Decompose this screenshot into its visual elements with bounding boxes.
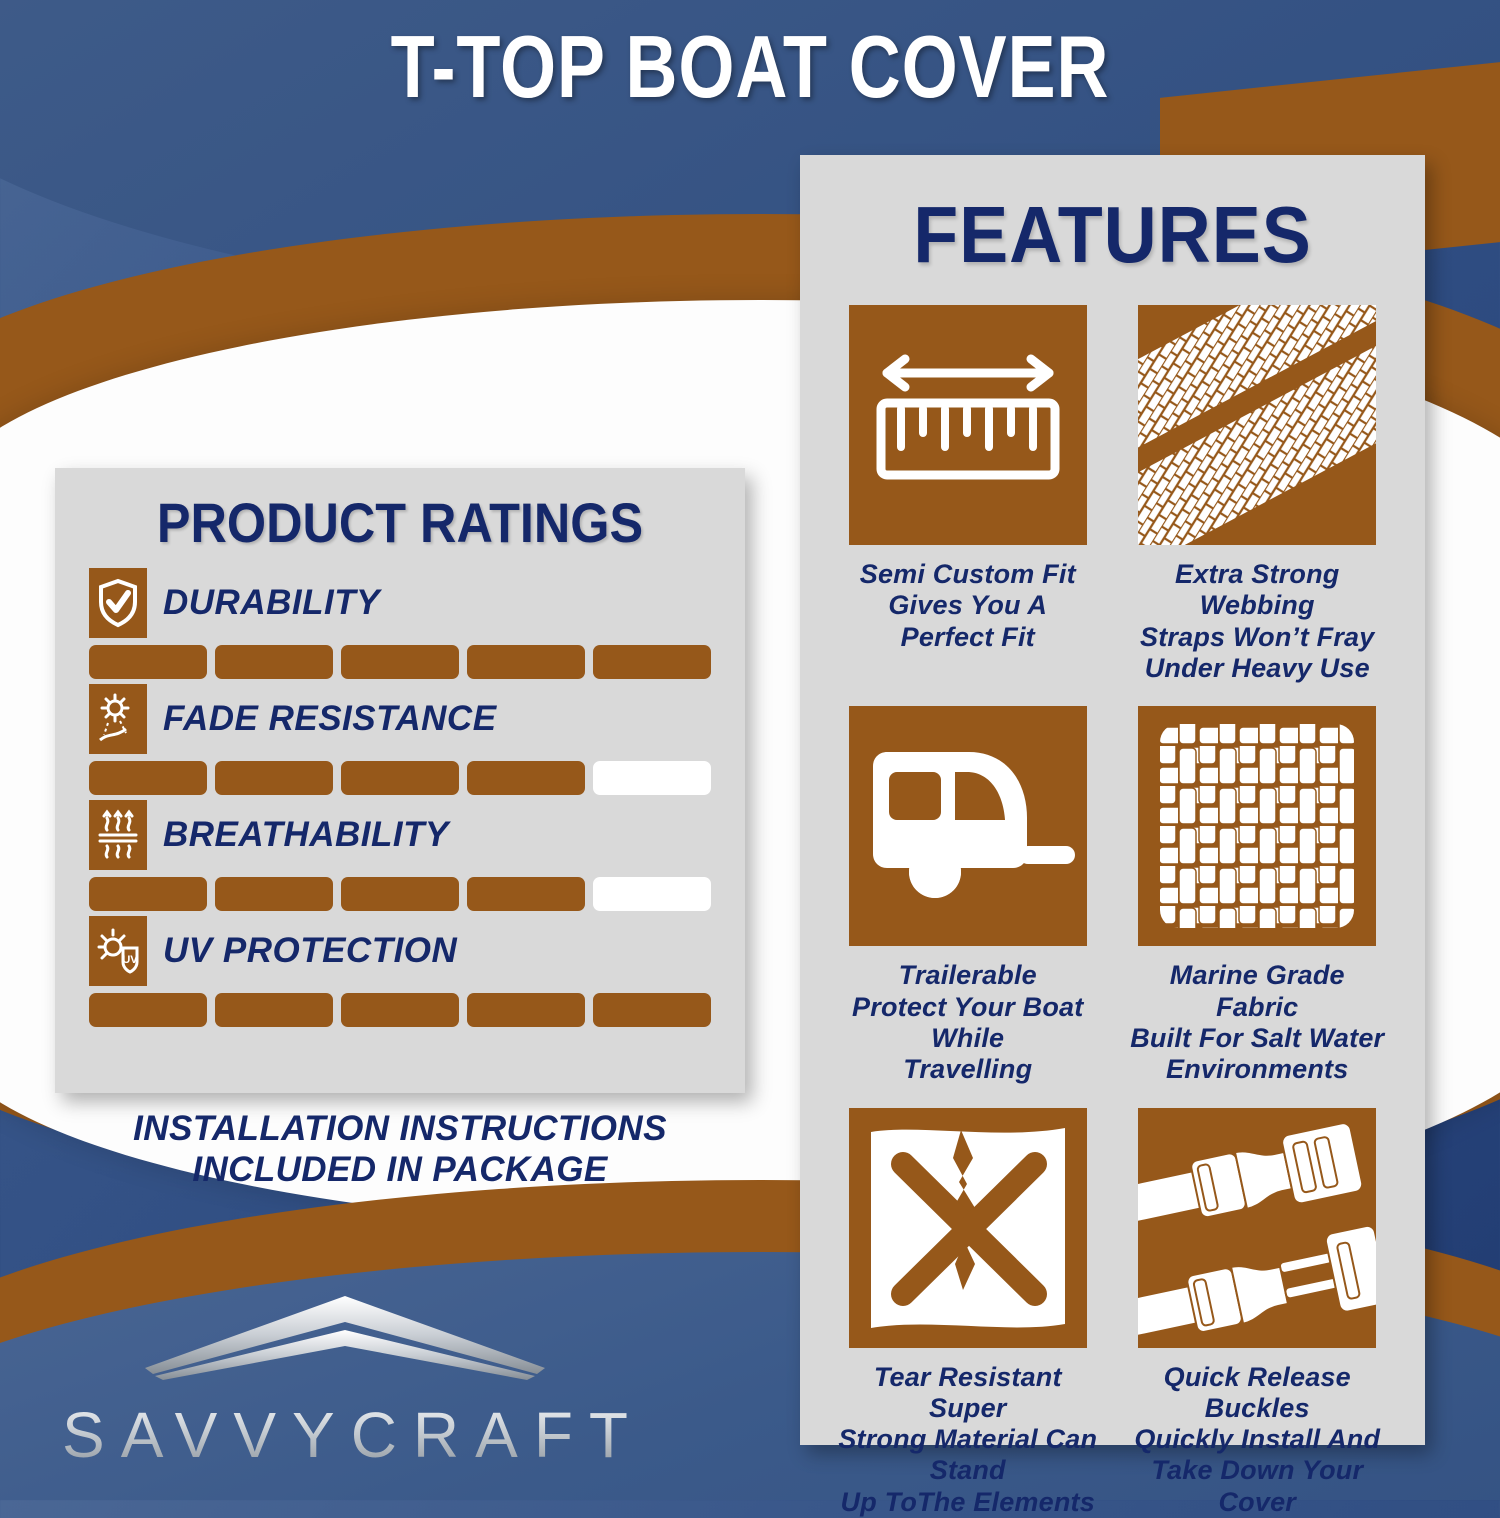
feature-caption-line: Quickly Install And xyxy=(1128,1424,1388,1455)
rating-bar-segment xyxy=(341,645,459,679)
rating-bar-segment xyxy=(467,761,585,795)
brand-logo: SAVVYCRAFT xyxy=(40,1290,650,1472)
rating-row: BREATHABILITY xyxy=(89,797,711,911)
uv-shield-icon: UV xyxy=(89,916,147,986)
feature-caption-line: Travelling xyxy=(838,1054,1098,1085)
shield-check-icon xyxy=(89,568,147,638)
page-title: T-TOP BOAT COVER xyxy=(135,16,1365,118)
torn-fabric-x-icon xyxy=(849,1108,1087,1348)
install-note-line-2: INCLUDED IN PACKAGE xyxy=(60,1149,740,1190)
rating-bar-segment xyxy=(215,993,333,1027)
rating-bar-track xyxy=(89,877,711,911)
rating-bar-segment xyxy=(341,877,459,911)
feature-caption-line: Marine Grade Fabric xyxy=(1128,960,1388,1023)
svg-text:UV: UV xyxy=(122,954,138,966)
features-panel-title: FEATURES xyxy=(825,189,1400,281)
airflow-icon xyxy=(89,800,147,870)
rating-bar-track xyxy=(89,993,711,1027)
rating-bar-segment xyxy=(215,645,333,679)
feature-item: Extra Strong Webbing Straps Won’t Fray U… xyxy=(1128,305,1388,684)
rating-bar-segment xyxy=(467,645,585,679)
feature-caption-line: Perfect Fit xyxy=(860,622,1076,653)
feature-caption-line: Straps Won’t Fray xyxy=(1128,622,1388,653)
brand-name: SAVVYCRAFT xyxy=(40,1398,650,1472)
rating-row: DURABILITY xyxy=(89,565,711,679)
feature-item: Tear Resistant Super Strong Material Can… xyxy=(838,1108,1098,1518)
feature-caption-line: Extra Strong Webbing xyxy=(1128,559,1388,622)
feature-caption-line: Built For Salt Water xyxy=(1128,1023,1388,1054)
feature-item: Marine Grade Fabric Built For Salt Water… xyxy=(1128,706,1388,1085)
rating-bar-segment xyxy=(89,645,207,679)
feature-caption: Trailerable Protect Your Boat While Trav… xyxy=(838,960,1098,1085)
feature-item: Semi Custom Fit Gives You A Perfect Fit xyxy=(838,305,1098,684)
rating-bar-track xyxy=(89,645,711,679)
feature-caption-line: Protect Your Boat While xyxy=(838,992,1098,1055)
feature-item: Trailerable Protect Your Boat While Trav… xyxy=(838,706,1098,1085)
rating-row: UV UV PROTECTION xyxy=(89,913,711,1027)
rating-label: UV PROTECTION xyxy=(163,931,457,971)
rating-bar-segment xyxy=(593,645,711,679)
features-panel: FEATURES xyxy=(800,155,1425,1445)
feature-item: Quick Release Buckles Quickly Install An… xyxy=(1128,1108,1388,1518)
installation-instructions-note: INSTALLATION INSTRUCTIONS INCLUDED IN PA… xyxy=(60,1108,740,1191)
rating-label: BREATHABILITY xyxy=(163,815,449,855)
feature-caption-line: Semi Custom Fit xyxy=(860,559,1076,590)
quick-release-buckle-icon xyxy=(1138,1108,1376,1348)
rating-bar-segment xyxy=(215,761,333,795)
rating-bar-segment xyxy=(593,877,711,911)
feature-caption-line: Take Down Your Cover xyxy=(1128,1455,1388,1518)
rating-bar-segment xyxy=(341,993,459,1027)
ratings-panel-title: PRODUCT RATINGS xyxy=(90,490,711,555)
feature-caption-line: Under Heavy Use xyxy=(1128,653,1388,684)
rating-bar-segment xyxy=(89,761,207,795)
feature-caption: Semi Custom Fit Gives You A Perfect Fit xyxy=(860,559,1076,653)
install-note-line-1: INSTALLATION INSTRUCTIONS xyxy=(60,1108,740,1149)
feature-caption-line: Gives You A xyxy=(860,590,1076,621)
rating-bar-segment xyxy=(593,761,711,795)
rating-bar-segment xyxy=(89,877,207,911)
feature-caption-line: Trailerable xyxy=(838,960,1098,991)
trailer-icon xyxy=(849,706,1087,946)
rating-bar-segment xyxy=(467,877,585,911)
woven-fabric-icon xyxy=(1138,706,1376,946)
boat-wing-icon xyxy=(135,1290,555,1390)
rating-bar-track xyxy=(89,761,711,795)
measuring-tape-icon xyxy=(849,305,1087,545)
sun-fade-icon xyxy=(89,684,147,754)
rating-bar-segment xyxy=(215,877,333,911)
feature-caption: Marine Grade Fabric Built For Salt Water… xyxy=(1128,960,1388,1085)
rating-row: FADE RESISTANCE xyxy=(89,681,711,795)
rating-bar-segment xyxy=(341,761,459,795)
feature-caption-line: Quick Release Buckles xyxy=(1128,1362,1388,1425)
feature-caption-line: Up ToThe Elements xyxy=(838,1487,1098,1518)
rating-bar-segment xyxy=(467,993,585,1027)
rating-label: DURABILITY xyxy=(163,583,380,623)
feature-caption: Tear Resistant Super Strong Material Can… xyxy=(838,1362,1098,1518)
feature-caption: Extra Strong Webbing Straps Won’t Fray U… xyxy=(1128,559,1388,684)
rating-label: FADE RESISTANCE xyxy=(163,699,497,739)
feature-caption-line: Strong Material Can Stand xyxy=(838,1424,1098,1487)
product-ratings-panel: PRODUCT RATINGS DURABILITY xyxy=(55,468,745,1093)
feature-caption: Quick Release Buckles Quickly Install An… xyxy=(1128,1362,1388,1518)
features-grid: Semi Custom Fit Gives You A Perfect Fit xyxy=(800,305,1425,1518)
rating-bar-segment xyxy=(593,993,711,1027)
feature-caption-line: Tear Resistant Super xyxy=(838,1362,1098,1425)
feature-caption-line: Environments xyxy=(1128,1054,1388,1085)
braided-rope-icon xyxy=(1138,305,1376,545)
rating-bar-segment xyxy=(89,993,207,1027)
